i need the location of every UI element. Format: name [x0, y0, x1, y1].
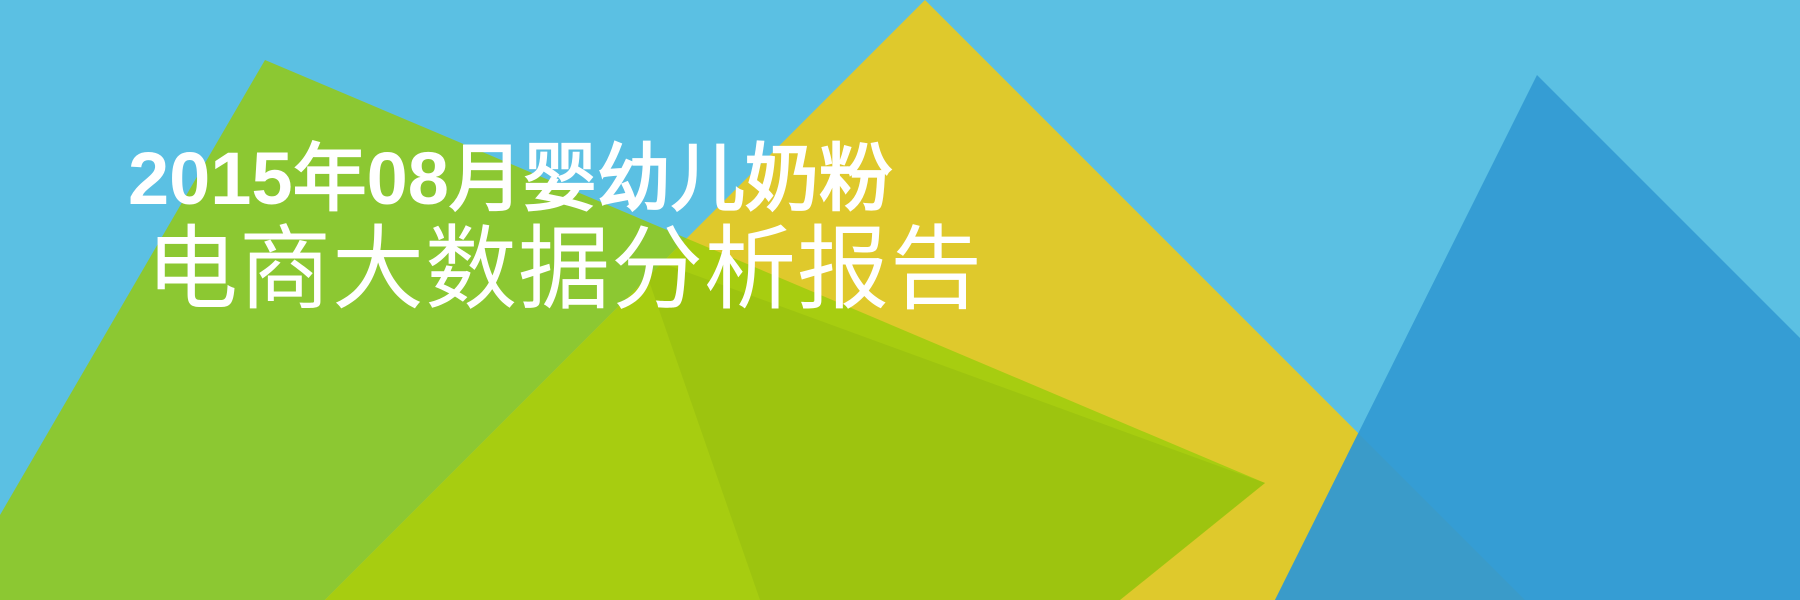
background-geometry — [0, 0, 1800, 600]
report-cover-banner: 2015年08月婴幼儿奶粉 电商大数据分析报告 — [0, 0, 1800, 600]
